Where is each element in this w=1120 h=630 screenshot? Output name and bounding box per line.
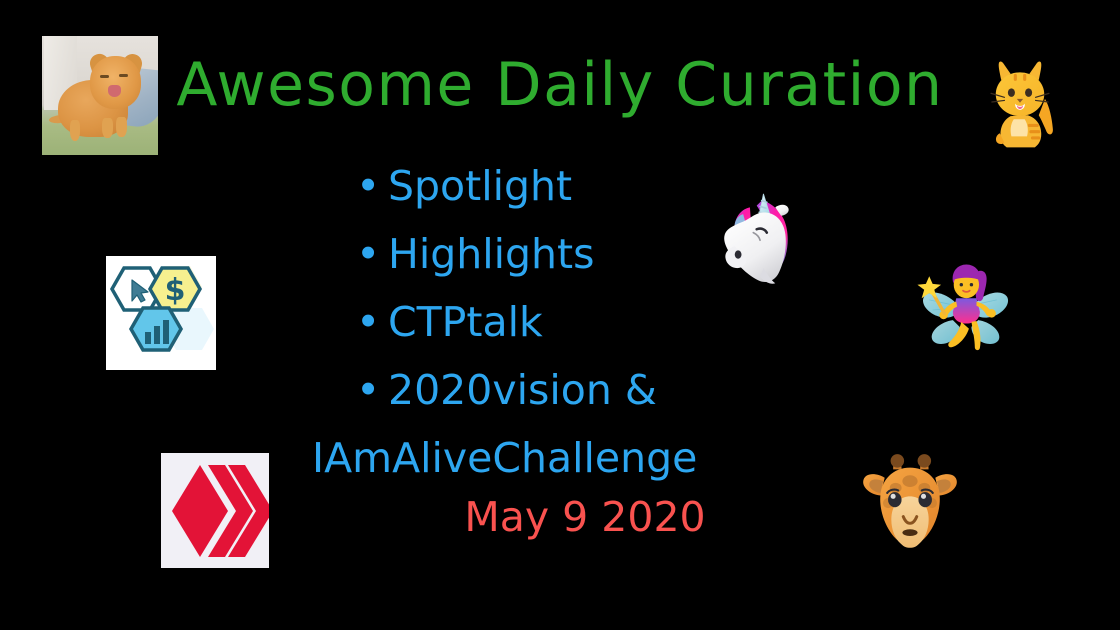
list-item: • CTPtalk [350, 288, 820, 356]
list-item-label: IAmAliveChallenge [312, 434, 697, 482]
list-item-label: 2020vision & [388, 366, 657, 414]
presentation-slide: Awesome Daily Curation [0, 0, 1120, 630]
list-item-label: Spotlight [388, 162, 572, 210]
cat-emoji [968, 52, 1072, 152]
kitten-leg-front-right [116, 117, 126, 137]
ctp-hexagon-logo: $ [106, 256, 216, 370]
bullet-marker: • [356, 356, 380, 424]
unicorn-emoji [700, 182, 810, 290]
svg-text:$: $ [165, 273, 186, 308]
list-item-label: Highlights [388, 230, 594, 278]
giraffe-emoji [856, 442, 964, 554]
bullet-marker: • [356, 220, 380, 288]
slide-title: Awesome Daily Curation [0, 55, 1120, 115]
slide-date: May 9 2020 [350, 495, 820, 540]
bullet-marker: • [356, 288, 380, 356]
list-item-continuation: IAmAliveChallenge [312, 424, 820, 492]
hive-logo [161, 453, 269, 568]
list-item-label: CTPtalk [388, 298, 543, 346]
list-item: • 2020vision & [350, 356, 820, 424]
kitten-leg-rear [70, 120, 80, 140]
kitten-leg-front-left [102, 118, 112, 138]
bullet-marker: • [356, 152, 380, 220]
fairy-emoji [908, 256, 1018, 364]
